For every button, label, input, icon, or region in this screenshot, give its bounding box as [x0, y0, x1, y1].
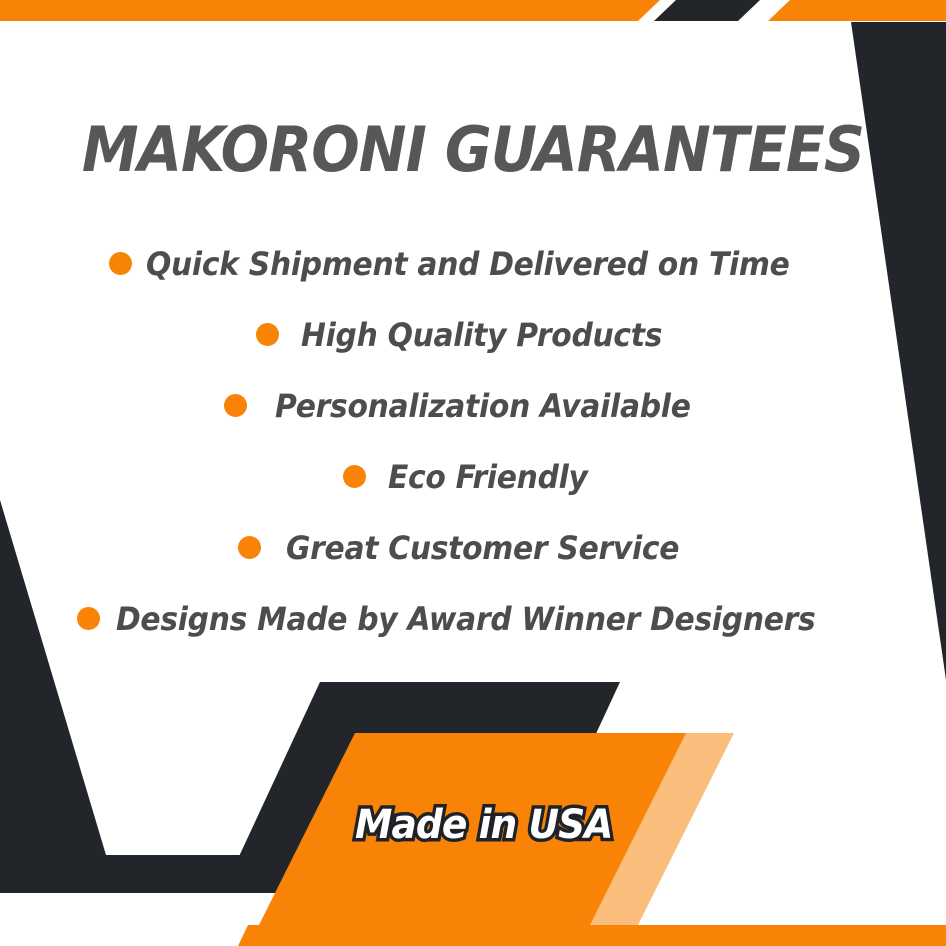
list-item: Eco Friendly	[0, 441, 946, 512]
list-item: Great Customer Service	[0, 512, 946, 583]
guarantee-list: Quick Shipment and Delivered on Time Hig…	[0, 228, 946, 654]
guarantees-poster: MAKORONI GUARANTEES Quick Shipment and D…	[0, 0, 946, 946]
bullet-icon	[238, 536, 261, 559]
list-item-label: Eco Friendly	[388, 458, 588, 496]
bullet-icon	[109, 252, 132, 275]
list-item-label: Quick Shipment and Delivered on Time	[146, 245, 790, 283]
list-item: Quick Shipment and Delivered on Time	[0, 228, 946, 299]
list-item-label: High Quality Products	[301, 316, 662, 354]
list-item: Designs Made by Award Winner Designers	[0, 583, 946, 654]
bullet-icon	[224, 394, 247, 417]
made-in-usa-badge: Made in USA	[355, 802, 612, 848]
page-title: MAKORONI GUARANTEES	[38, 113, 908, 186]
list-item: Personalization Available	[0, 370, 946, 441]
poster-content: MAKORONI GUARANTEES Quick Shipment and D…	[0, 0, 946, 946]
list-item-label: Personalization Available	[275, 387, 691, 425]
list-item-label: Designs Made by Award Winner Designers	[116, 600, 815, 638]
bullet-icon	[343, 465, 366, 488]
list-item-label: Great Customer Service	[286, 529, 679, 567]
bullet-icon	[77, 607, 100, 630]
bullet-icon	[256, 323, 279, 346]
list-item: High Quality Products	[0, 299, 946, 370]
